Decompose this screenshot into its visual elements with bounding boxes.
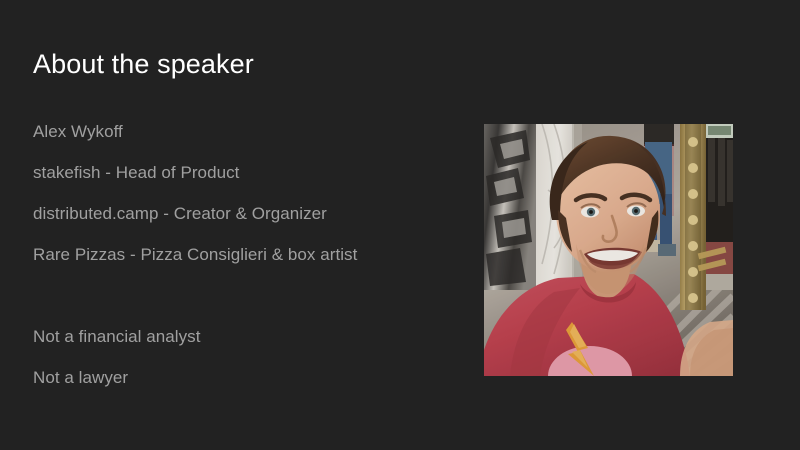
speaker-photo: [484, 124, 733, 376]
bio-line-distributed-camp: distributed.camp - Creator & Organizer: [33, 193, 463, 234]
page-title: About the speaker: [33, 48, 254, 80]
bio-line-spacer: [33, 275, 463, 316]
disclaimer-not-lawyer: Not a lawyer: [33, 357, 463, 398]
speaker-bio-list: Alex Wykoff stakefish - Head of Product …: [33, 111, 463, 398]
bio-line-name: Alex Wykoff: [33, 111, 463, 152]
disclaimer-not-financial-analyst: Not a financial analyst: [33, 316, 463, 357]
speaker-photo-image: [484, 124, 733, 376]
bio-line-rare-pizzas: Rare Pizzas - Pizza Consiglieri & box ar…: [33, 234, 463, 275]
bio-line-stakefish: stakefish - Head of Product: [33, 152, 463, 193]
presentation-slide: About the speaker Alex Wykoff stakefish …: [0, 0, 800, 450]
